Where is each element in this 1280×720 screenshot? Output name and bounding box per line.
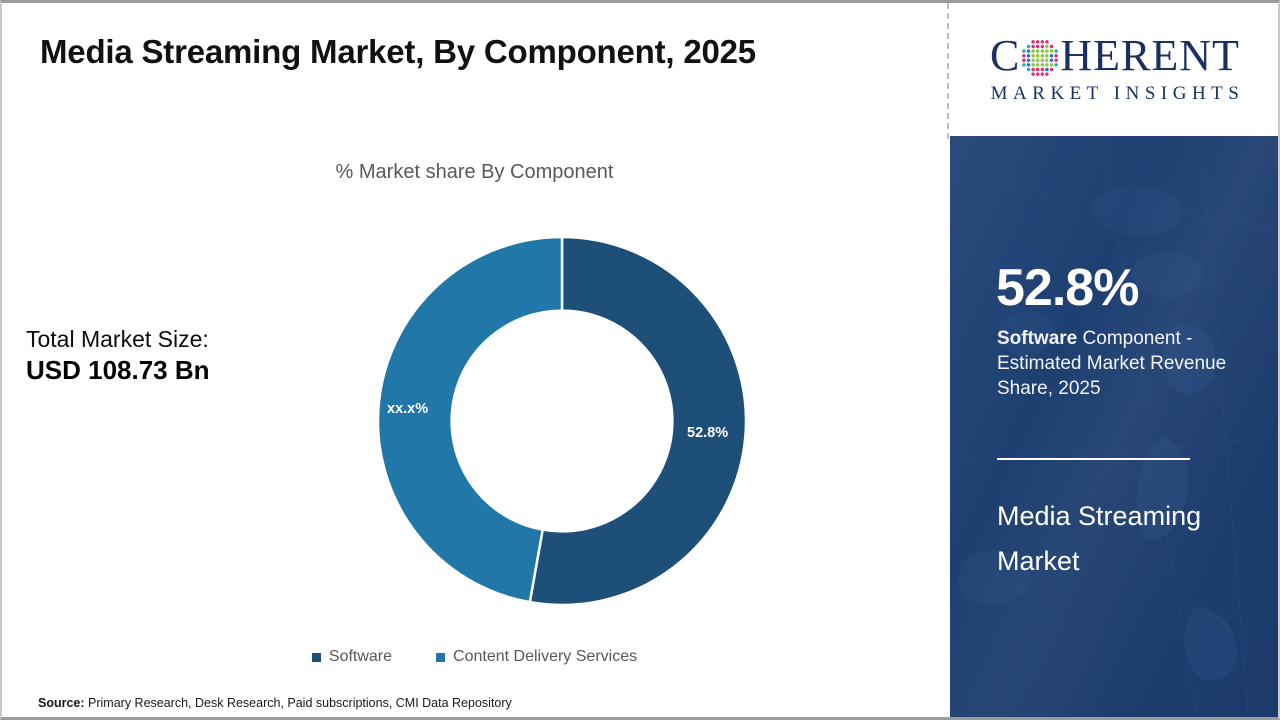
legend-label-content-delivery-services: Content Delivery Services: [453, 648, 637, 666]
vertical-dashed-divider: [947, 3, 949, 139]
logo-wordmark: C HERENT: [990, 34, 1240, 78]
side-panel-content: 52.8% Software Component - Estimated Mar…: [950, 136, 1278, 717]
main-chart-area: Media Streaming Market, By Component, 20…: [2, 3, 947, 717]
donut-slice-content-delivery-services[interactable]: [378, 237, 562, 602]
logo-text-part2: HERENT: [1060, 34, 1240, 78]
logo-tagline: MARKET INSIGHTS: [986, 83, 1245, 105]
legend-item-content-delivery-services[interactable]: Content Delivery Services: [436, 648, 637, 666]
stat-description: Software Component - Estimated Market Re…: [997, 326, 1242, 401]
legend-swatch-software: [312, 653, 321, 662]
total-market-size-label: Total Market Size:: [26, 325, 210, 353]
panel-horizontal-rule: [997, 458, 1190, 460]
stat-description-highlight: Software: [997, 328, 1077, 349]
source-note: Source: Primary Research, Desk Research,…: [38, 696, 512, 710]
source-prefix: Source:: [38, 696, 85, 710]
total-market-size-value: USD 108.73 Bn: [26, 355, 210, 387]
globe-dots-icon: [1021, 39, 1059, 77]
side-panel: 52.8% Software Component - Estimated Mar…: [950, 136, 1278, 717]
infographic-canvas: Media Streaming Market, By Component, 20…: [0, 0, 1280, 720]
total-market-size-block: Total Market Size: USD 108.73 Bn: [26, 325, 210, 387]
donut-chart: 52.8% xx.x%: [376, 235, 748, 607]
legend-item-software[interactable]: Software: [312, 648, 392, 666]
stat-value: 52.8%: [996, 262, 1138, 314]
donut-label-content-delivery-services: xx.x%: [387, 401, 428, 417]
brand-logo: C HERENT MARKET INSIGHTS: [952, 3, 1278, 135]
page-title: Media Streaming Market, By Component, 20…: [40, 33, 756, 71]
donut-label-software: 52.8%: [687, 425, 728, 441]
logo-text-part1: C: [990, 34, 1020, 78]
donut-chart-svg: [376, 235, 748, 607]
source-text: Primary Research, Desk Research, Paid su…: [85, 696, 512, 710]
chart-subtitle: % Market share By Component: [2, 161, 947, 184]
legend-swatch-content-delivery-services: [436, 653, 445, 662]
globe-dots-icon-svg: [1021, 39, 1059, 77]
panel-market-name: Media Streaming Market: [997, 494, 1237, 585]
chart-legend: Software Content Delivery Services: [2, 648, 947, 666]
legend-label-software: Software: [329, 648, 392, 666]
